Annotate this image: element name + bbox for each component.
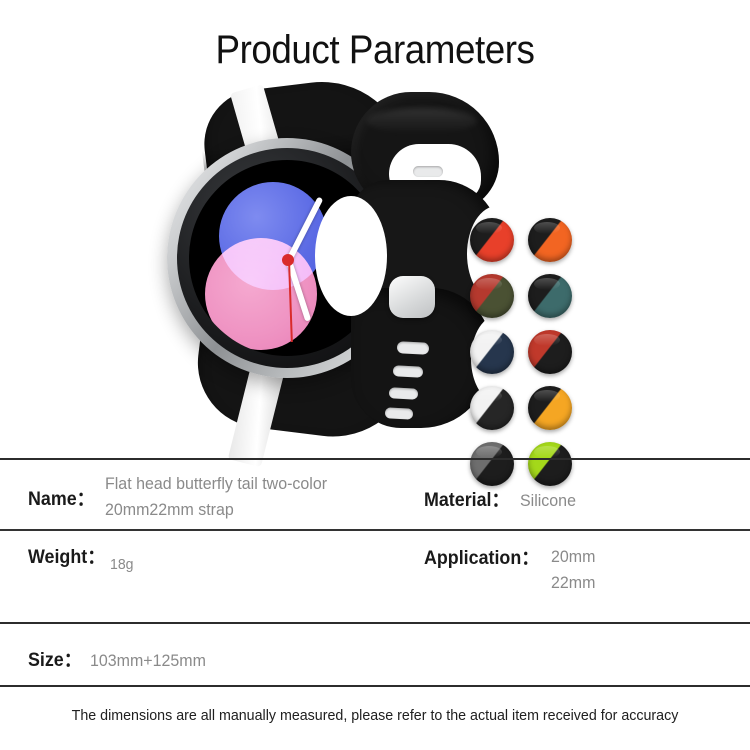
color-swatch-black-teal[interactable] (528, 274, 572, 318)
spec-weight-value: 18g (110, 556, 134, 573)
spec-material-value: Silicone (520, 491, 576, 511)
spec-application-cell: Application： 20mm 22mm (424, 543, 599, 596)
spec-size-label: Size： (28, 645, 82, 672)
tail-left-cutout (315, 196, 387, 316)
spec-weight-label: Weight： (28, 542, 105, 569)
strap-hole (397, 341, 430, 355)
strap-hole (385, 407, 414, 419)
strap-hole (389, 387, 419, 400)
spec-size-cell: Size： 103mm+125mm (28, 645, 213, 672)
spec-name-cell: Name： Flat head butterfly tail two-color… (28, 484, 341, 523)
spec-application-label: Application： (424, 543, 539, 570)
table-rule-2 (0, 622, 750, 624)
color-swatch-black-amber[interactable] (528, 386, 572, 430)
spec-application-value: 20mm 22mm (551, 544, 595, 596)
strap-hole (393, 365, 424, 378)
strap-slot (413, 166, 443, 177)
spec-material-label: Material： (424, 485, 509, 512)
table-rule-bottom (0, 685, 750, 687)
color-swatch-red-olive[interactable] (470, 274, 514, 318)
product-hero (0, 80, 750, 450)
product-photo (155, 80, 485, 450)
color-swatch-grey-black[interactable] (470, 442, 514, 486)
spec-name-value: Flat head butterfly tail two-color 20mm2… (105, 471, 327, 523)
spec-size-value: 103mm+125mm (90, 651, 206, 671)
color-option-grid (470, 218, 576, 486)
color-swatch-black-orange[interactable] (528, 218, 572, 262)
spec-weight-cell: Weight： 18g (28, 542, 135, 569)
color-swatch-white-navy[interactable] (470, 330, 514, 374)
watch-center-pin (282, 254, 294, 266)
spec-material-cell: Material： Silicone (424, 485, 579, 512)
tail-highlight (367, 108, 477, 134)
table-rule-1 (0, 529, 750, 531)
color-swatch-white-black[interactable] (470, 386, 514, 430)
strap-buckle-pin (389, 276, 435, 318)
table-rule-top (0, 458, 750, 460)
color-swatch-black-red[interactable] (470, 218, 514, 262)
page-title: Product Parameters (30, 28, 720, 73)
color-swatch-red-black[interactable] (528, 330, 572, 374)
spec-name-label: Name： (28, 484, 95, 511)
disclaimer-text: The dimensions are all manually measured… (19, 707, 732, 724)
color-swatch-lime-black[interactable] (528, 442, 572, 486)
